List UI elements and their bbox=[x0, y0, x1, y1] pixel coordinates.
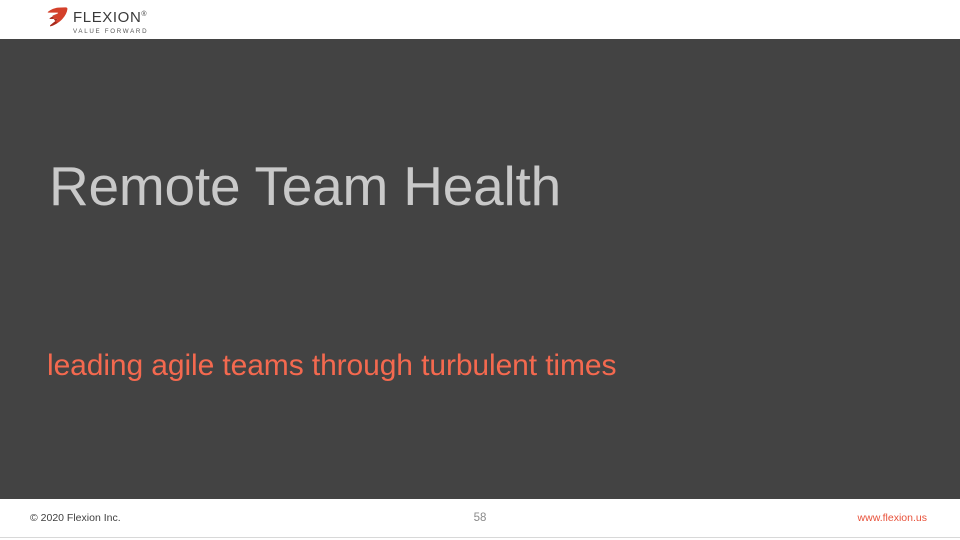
registered-trademark-icon: ® bbox=[141, 11, 146, 18]
flexion-logo-tagline: VALUE FORWARD bbox=[73, 27, 148, 36]
flexion-wordmark: FLEXION® VALUE FORWARD bbox=[73, 7, 148, 36]
flexion-logo-name: FLEXION® bbox=[73, 8, 148, 25]
page-title: Remote Team Health bbox=[49, 155, 561, 217]
slide-header: FLEXION® VALUE FORWARD bbox=[0, 0, 960, 39]
page-subtitle: leading agile teams through turbulent ti… bbox=[47, 348, 616, 384]
footer-page-number: 58 bbox=[0, 512, 960, 525]
slide-footer: © 2020 Flexion Inc. 58 www.flexion.us bbox=[0, 499, 960, 540]
flexion-bolt-icon bbox=[45, 7, 69, 29]
slide: FLEXION® VALUE FORWARD Remote Team Healt… bbox=[0, 0, 960, 540]
footer-website-link[interactable]: www.flexion.us bbox=[858, 512, 927, 525]
footer-divider bbox=[0, 537, 960, 538]
slide-body: Remote Team Health leading agile teams t… bbox=[0, 39, 960, 499]
flexion-logo: FLEXION® VALUE FORWARD bbox=[45, 7, 148, 36]
